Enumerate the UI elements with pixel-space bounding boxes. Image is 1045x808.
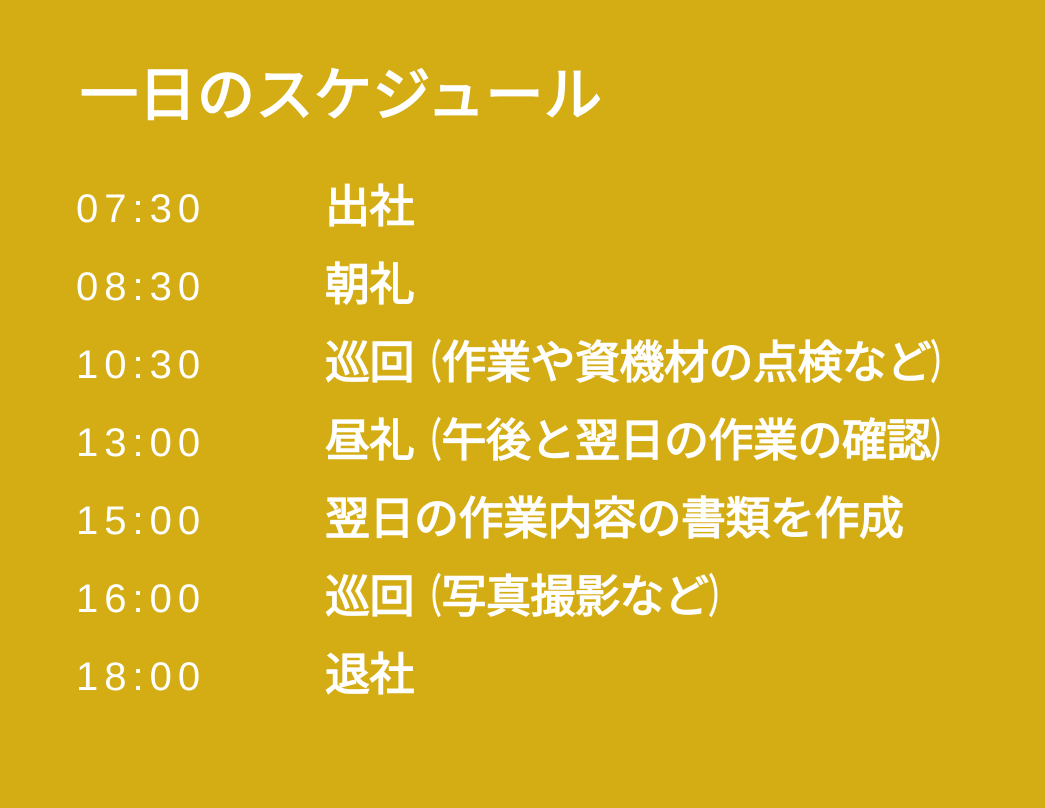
- schedule-row: 10:30 巡回（作業や資機材の点検など）: [76, 338, 1025, 416]
- schedule-task: 朝礼: [325, 260, 380, 310]
- schedule-task-main: 巡回: [325, 571, 414, 622]
- schedule-row: 15:00 翌日の作業内容の書類を作成: [76, 494, 1025, 572]
- schedule-task-main: 巡回: [325, 337, 414, 388]
- schedule-time: 15:00: [76, 498, 325, 544]
- paren-open: （: [414, 572, 442, 622]
- schedule-task-main: 朝礼: [325, 259, 414, 310]
- schedule-task: 退社: [325, 650, 380, 700]
- schedule-time: 16:00: [76, 576, 325, 622]
- schedule-row: 18:00 退社: [76, 650, 1025, 728]
- schedule-task-note: 作業や資機材の点検など: [441, 337, 931, 388]
- schedule-task-note: 午後と翌日の作業の確認: [441, 415, 931, 466]
- schedule-task: 昼礼（午後と翌日の作業の確認）: [325, 416, 958, 466]
- schedule-time: 07:30: [76, 186, 325, 232]
- schedule-time: 10:30: [76, 342, 325, 388]
- schedule-list: 07:30 出社 08:30 朝礼 10:30 巡回（作業や資機材の点検など） …: [76, 182, 1025, 728]
- schedule-time: 08:30: [76, 264, 325, 310]
- schedule-row: 08:30 朝礼: [76, 260, 1025, 338]
- schedule-task: 巡回（作業や資機材の点検など）: [325, 338, 958, 388]
- schedule-task-note: 写真撮影など: [441, 571, 708, 622]
- paren-open: （: [414, 338, 442, 388]
- schedule-task: 出社: [325, 182, 380, 232]
- paren-close: ）: [931, 416, 959, 466]
- schedule-task-main: 昼礼: [325, 415, 414, 466]
- schedule-row: 07:30 出社: [76, 182, 1025, 260]
- schedule-time: 18:00: [76, 654, 325, 700]
- schedule-task: 翌日の作業内容の書類を作成: [325, 494, 869, 544]
- schedule-task-main: 出社: [325, 181, 414, 232]
- paren-close: ）: [708, 572, 736, 622]
- page-title: 一日のスケジュール: [80, 58, 602, 134]
- schedule-task: 巡回（写真撮影など）: [325, 572, 736, 622]
- schedule-slide: 一日のスケジュール 07:30 出社 08:30 朝礼 10:30 巡回（作業や…: [0, 0, 1045, 808]
- schedule-task-main: 翌日の作業内容の書類を作成: [325, 493, 904, 544]
- schedule-row: 16:00 巡回（写真撮影など）: [76, 572, 1025, 650]
- paren-close: ）: [931, 338, 959, 388]
- schedule-time: 13:00: [76, 420, 325, 466]
- paren-open: （: [414, 416, 442, 466]
- schedule-task-main: 退社: [325, 649, 414, 700]
- schedule-row: 13:00 昼礼（午後と翌日の作業の確認）: [76, 416, 1025, 494]
